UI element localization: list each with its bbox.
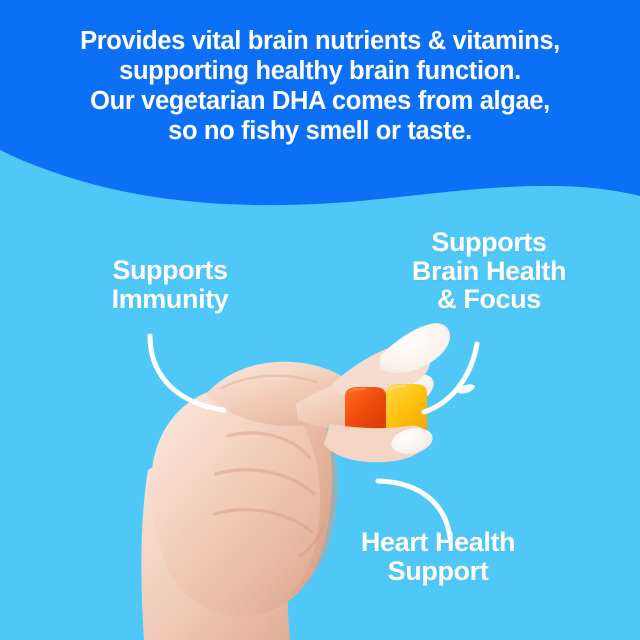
callout-brain-line-3: & Focus: [376, 285, 602, 314]
callout-brain-line-1: Supports: [376, 228, 602, 257]
banner-line-4: so no fishy smell or taste.: [0, 116, 640, 146]
upper-fingernail: [380, 323, 450, 373]
callout-supports-immunity: Supports Immunity: [60, 256, 280, 313]
banner-line-2: supporting healthy brain function.: [0, 56, 640, 86]
callout-supports-brain-health-focus: Supports Brain Health & Focus: [376, 228, 602, 314]
callout-brain-line-2: Brain Health: [376, 257, 602, 286]
callout-immunity-line-1: Supports: [60, 256, 280, 285]
banner-headline: Provides vital brain nutrients & vitamin…: [0, 26, 640, 146]
banner-line-3: Our vegetarian DHA comes from algae,: [0, 86, 640, 116]
callout-heart-line-1: Heart Health: [318, 528, 558, 557]
banner-line-1: Provides vital brain nutrients & vitamin…: [0, 26, 640, 56]
callout-immunity-line-2: Immunity: [60, 285, 280, 314]
infographic-canvas: Provides vital brain nutrients & vitamin…: [0, 0, 640, 640]
callout-heart-health-support: Heart Health Support: [318, 528, 558, 585]
nail-highlight-fleck: [456, 382, 476, 395]
callout-heart-line-2: Support: [318, 557, 558, 586]
